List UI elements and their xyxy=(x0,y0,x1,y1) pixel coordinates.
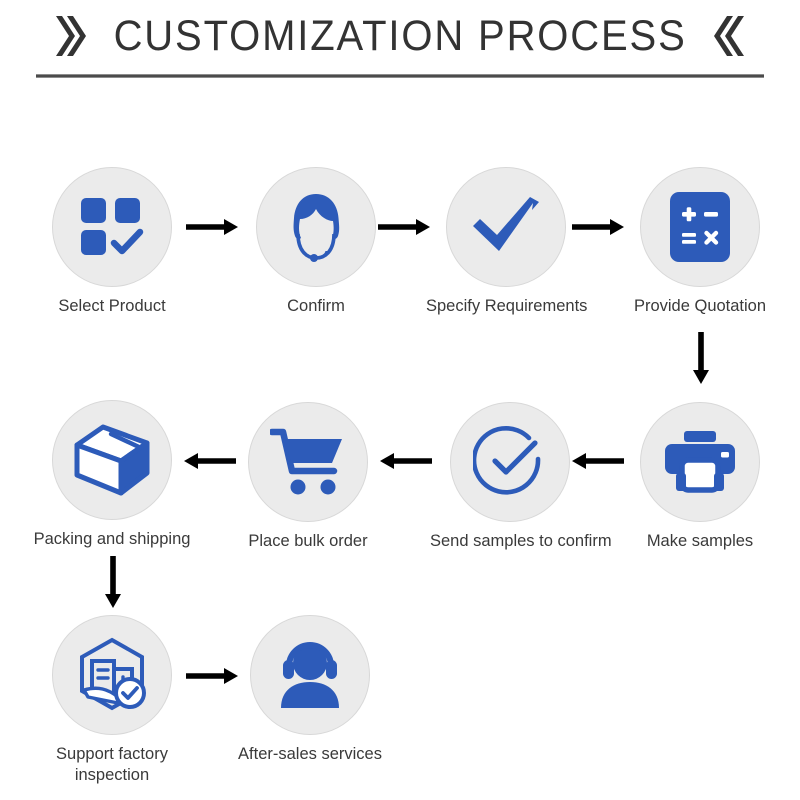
step-select-product[interactable]: Select Product xyxy=(32,167,192,317)
arrow-packing-to-inspection xyxy=(104,556,122,608)
step-label: Send samples to confirm xyxy=(430,531,590,552)
step-packing-and-shipping[interactable]: Packing and shipping xyxy=(32,400,192,550)
arrow-specify-to-quotation xyxy=(572,218,624,236)
step-label: Make samples xyxy=(620,531,780,552)
step-icon-circle xyxy=(640,402,760,522)
step-label: Specify Requirements xyxy=(426,296,586,317)
checkmark-icon xyxy=(470,194,542,260)
step-icon-circle xyxy=(640,167,760,287)
shopping-cart-icon xyxy=(270,427,346,497)
circle-check-icon xyxy=(473,425,547,499)
step-icon-circle xyxy=(256,167,376,287)
headset-person-icon xyxy=(272,640,348,710)
factory-inspection-icon xyxy=(74,637,150,713)
step-provide-quotation[interactable]: Provide Quotation xyxy=(620,167,780,317)
step-icon-circle xyxy=(52,400,172,520)
arrow-make-samples-to-send xyxy=(572,452,624,470)
arrow-confirm-to-specify xyxy=(378,218,430,236)
step-specify-requirements[interactable]: Specify Requirements xyxy=(426,167,586,317)
step-after-sales-services[interactable]: After-sales services xyxy=(230,615,390,765)
step-label: Provide Quotation xyxy=(620,296,780,317)
step-send-samples-to-confirm[interactable]: Send samples to confirm xyxy=(430,402,590,552)
step-icon-circle xyxy=(450,402,570,522)
calculator-icon xyxy=(669,191,731,263)
step-confirm[interactable]: Confirm xyxy=(236,167,396,317)
double-chevron-left-icon xyxy=(714,13,748,59)
arrow-bulk-order-to-packing xyxy=(184,452,236,470)
page-header: CUSTOMIZATION PROCESS xyxy=(0,8,800,64)
step-label: Packing and shipping xyxy=(32,529,192,550)
step-place-bulk-order[interactable]: Place bulk order xyxy=(228,402,388,552)
arrow-inspection-to-after-sales xyxy=(186,667,238,685)
step-label: Support factory inspection xyxy=(32,744,192,786)
title-row: CUSTOMIZATION PROCESS xyxy=(0,8,800,64)
step-make-samples[interactable]: Make samples xyxy=(620,402,780,552)
step-icon-circle xyxy=(446,167,566,287)
step-icon-circle xyxy=(52,615,172,735)
arrow-select-to-confirm xyxy=(186,218,238,236)
title-divider xyxy=(36,74,764,78)
agent-headset-icon xyxy=(277,188,355,266)
step-label: After-sales services xyxy=(230,744,390,765)
double-chevron-right-icon xyxy=(52,13,86,59)
page-title: CUSTOMIZATION PROCESS xyxy=(113,12,686,61)
printer-icon xyxy=(662,430,738,494)
grid-check-icon xyxy=(79,196,145,258)
step-label: Select Product xyxy=(32,296,192,317)
step-icon-circle xyxy=(250,615,370,735)
step-label: Confirm xyxy=(236,296,396,317)
step-icon-circle xyxy=(52,167,172,287)
arrow-quotation-to-make-samples xyxy=(692,332,710,384)
step-icon-circle xyxy=(248,402,368,522)
step-label: Place bulk order xyxy=(228,531,388,552)
package-box-icon xyxy=(73,423,151,497)
arrow-send-to-bulk-order xyxy=(380,452,432,470)
step-support-factory-inspection[interactable]: Support factory inspection xyxy=(32,615,192,786)
